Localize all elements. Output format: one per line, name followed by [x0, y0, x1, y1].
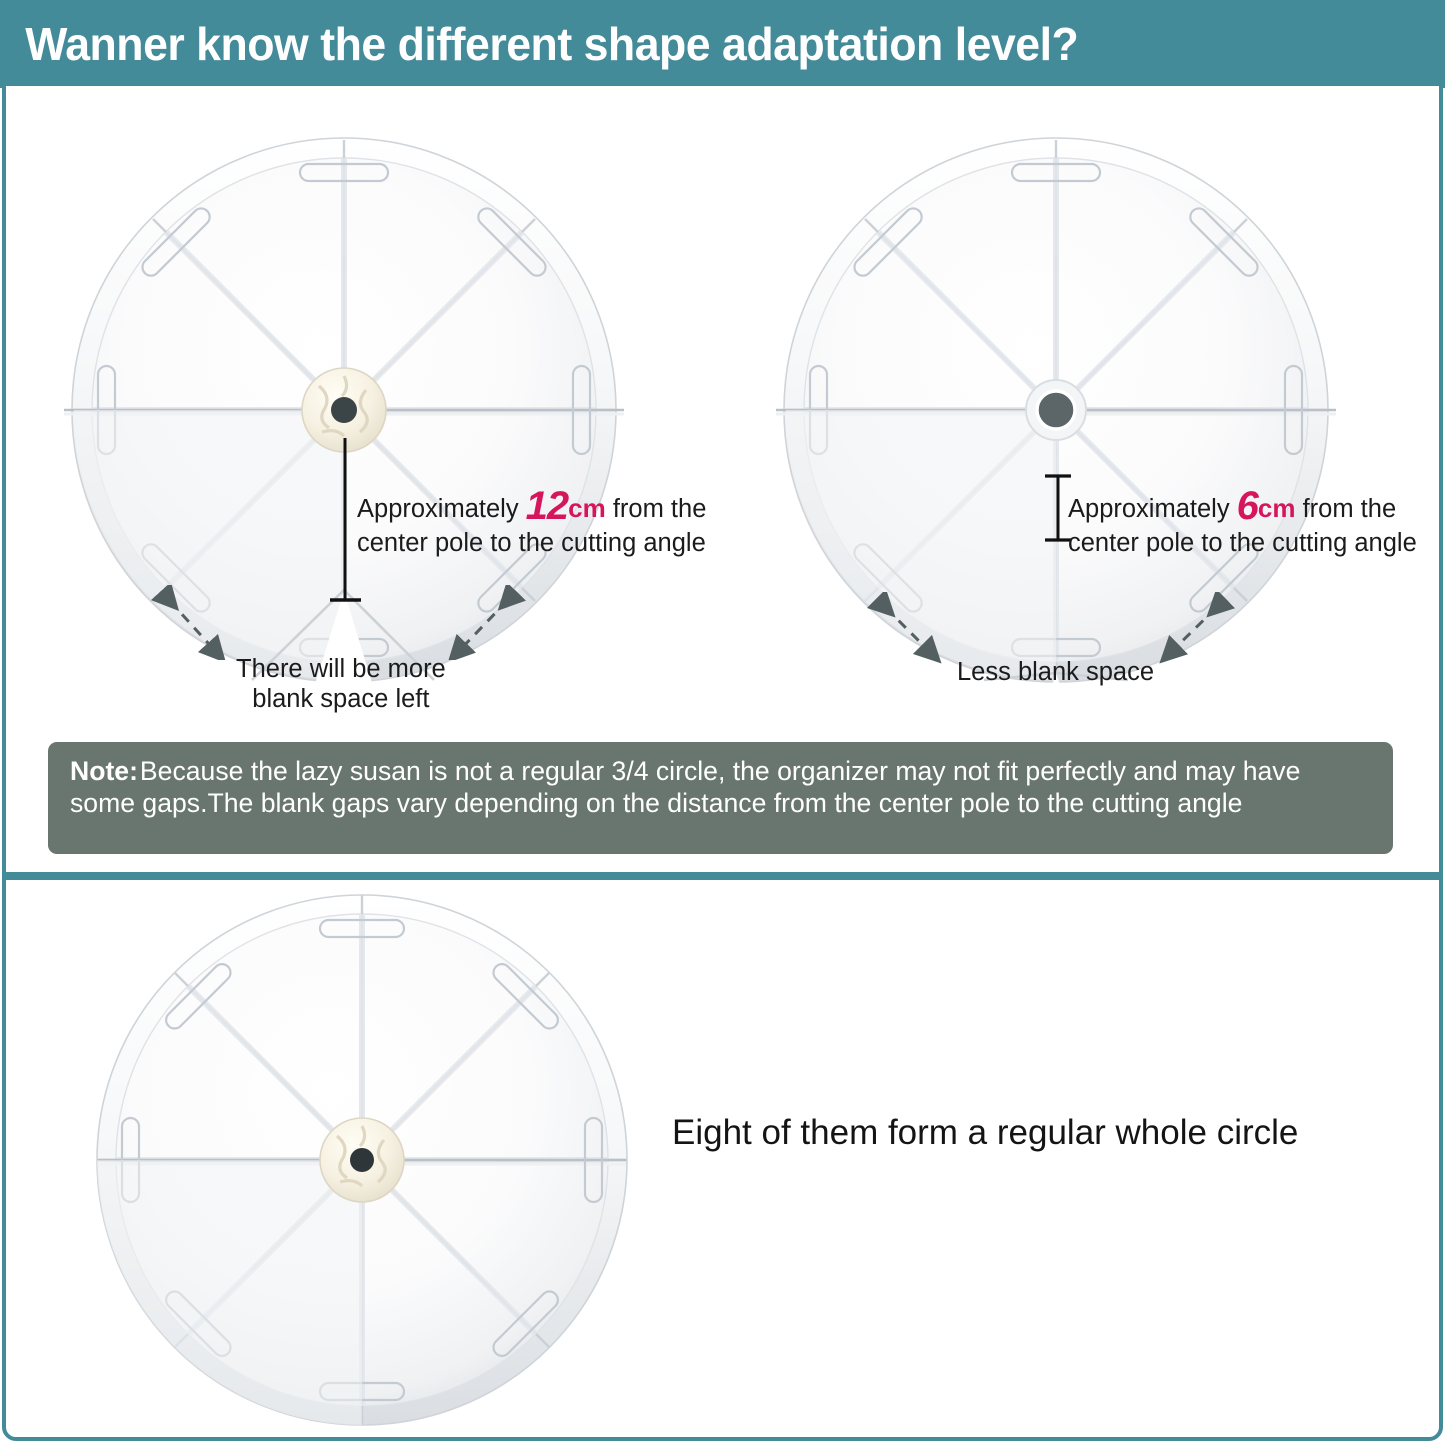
note-body: Because the lazy susan is not a regular …	[70, 756, 1300, 818]
center-pole-hole-icon	[1037, 391, 1075, 429]
gap-caption-left: There will be more blank space left	[236, 655, 446, 714]
callout-value-6: 6	[1237, 484, 1258, 528]
measure-callout-6cm: Approximately 6cm from the center pole t…	[1068, 483, 1417, 559]
gap-caption-right-line1: Less blank space	[957, 658, 1154, 686]
callout-unit-12: cm	[568, 493, 606, 523]
full-circle-figure	[82, 882, 642, 1438]
measure-callout-12cm: Approximately 12cm from the center pole …	[357, 483, 706, 559]
callout-suffix-6: from the	[1303, 495, 1397, 523]
gap-caption-right: Less blank space	[957, 658, 1154, 688]
bottom-caption: Eight of them form a regular whole circl…	[672, 1113, 1298, 1153]
callout-suffix-12: from the	[613, 495, 707, 523]
callout-unit-6: cm	[1258, 493, 1296, 523]
gap-arrows-right	[866, 592, 1256, 664]
callout-line2-6: center pole to the cutting angle	[1068, 529, 1417, 557]
gap-caption-left-line2: blank space left	[252, 685, 429, 713]
callout-value-12: 12	[526, 484, 569, 528]
callout-prefix-6: Approximately	[1068, 495, 1230, 523]
callout-prefix-12: Approximately	[357, 495, 519, 523]
organizer-full-circle-illustration	[82, 882, 642, 1438]
infographic-page: Wanner know the different shape adaptati…	[0, 0, 1445, 1443]
center-pole-hole-icon	[350, 1148, 374, 1172]
header-bar: Wanner know the different shape adaptati…	[0, 0, 1445, 88]
gap-arrows-left	[150, 585, 550, 660]
note-box: Note:Because the lazy susan is not a reg…	[48, 742, 1393, 854]
note-label: Note:	[70, 756, 138, 786]
gap-caption-left-line1: There will be more	[236, 655, 446, 683]
center-pole-hole-icon	[331, 397, 357, 423]
callout-line2-12: center pole to the cutting angle	[357, 529, 706, 557]
page-title: Wanner know the different shape adaptati…	[0, 17, 1078, 71]
